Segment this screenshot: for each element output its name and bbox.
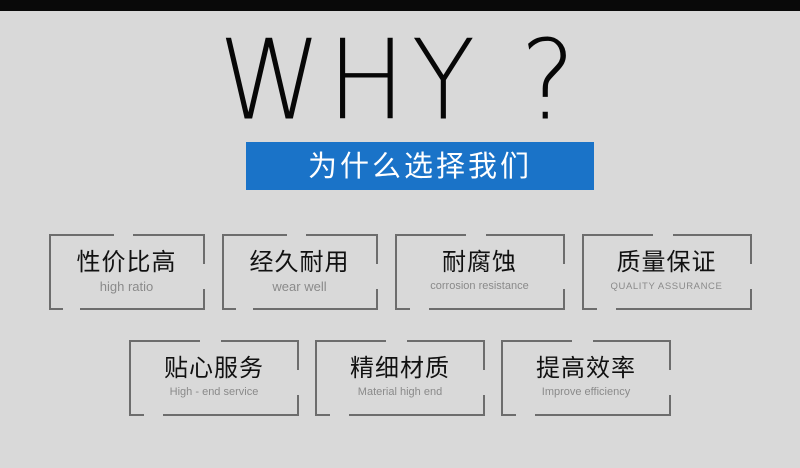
feature-card-improve-efficiency[interactable]: 提高效率 Improve efficiency — [501, 340, 671, 416]
feature-card-content: 贴心服务 High - end service — [129, 340, 299, 416]
feature-title-cn: 性价比高 — [77, 248, 177, 276]
hero-section: WHY ? 为什么选择我们 — [0, 11, 800, 201]
feature-grid: 性价比高 high ratio 经久耐用 wear well — [0, 234, 800, 416]
feature-title-en: QUALITY ASSURANCE — [611, 279, 723, 294]
feature-title-en: high ratio — [100, 279, 153, 294]
feature-card-wear-well[interactable]: 经久耐用 wear well — [222, 234, 378, 310]
page-title: WHY ? — [0, 25, 800, 135]
feature-card-high-ratio[interactable]: 性价比高 high ratio — [49, 234, 205, 310]
subtitle-banner: 为什么选择我们 — [246, 142, 594, 190]
feature-card-content: 耐腐蚀 corrosion resistance — [395, 234, 565, 310]
feature-card-content: 质量保证 QUALITY ASSURANCE — [582, 234, 752, 310]
feature-card-high-end-service[interactable]: 贴心服务 High - end service — [129, 340, 299, 416]
feature-card-quality-assurance[interactable]: 质量保证 QUALITY ASSURANCE — [582, 234, 752, 310]
feature-card-corrosion-resistance[interactable]: 耐腐蚀 corrosion resistance — [395, 234, 565, 310]
feature-card-material-high-end[interactable]: 精细材质 Material high end — [315, 340, 485, 416]
feature-title-cn: 耐腐蚀 — [442, 248, 517, 276]
feature-title-en: Improve efficiency — [542, 385, 630, 400]
feature-card-content: 经久耐用 wear well — [222, 234, 378, 310]
top-black-bar — [0, 0, 800, 11]
feature-title-cn: 质量保证 — [617, 248, 717, 276]
feature-title-en: High - end service — [170, 385, 259, 400]
feature-title-cn: 贴心服务 — [164, 354, 264, 382]
feature-row-1: 性价比高 high ratio 经久耐用 wear well — [0, 234, 800, 310]
feature-title-en: Material high end — [358, 385, 442, 400]
feature-card-content: 性价比高 high ratio — [49, 234, 205, 310]
feature-title-en: corrosion resistance — [430, 279, 528, 294]
feature-title-cn: 经久耐用 — [250, 248, 350, 276]
feature-title-cn: 精细材质 — [350, 354, 450, 382]
feature-title-en: wear well — [272, 279, 326, 294]
feature-row-2: 贴心服务 High - end service 精细材质 Material hi… — [0, 340, 800, 416]
feature-title-cn: 提高效率 — [536, 354, 636, 382]
subtitle-text: 为什么选择我们 — [308, 152, 532, 181]
feature-card-content: 提高效率 Improve efficiency — [501, 340, 671, 416]
feature-card-content: 精细材质 Material high end — [315, 340, 485, 416]
